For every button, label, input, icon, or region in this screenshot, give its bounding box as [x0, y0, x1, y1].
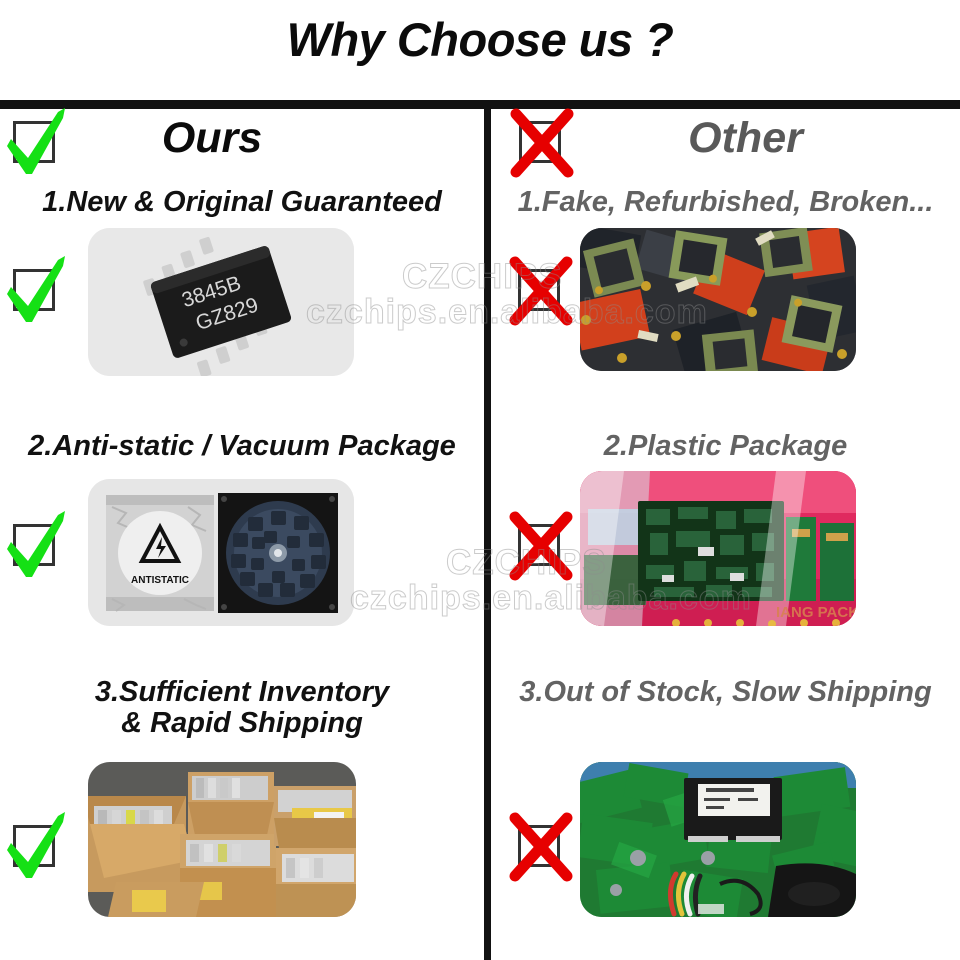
- ours-row-1: 1.New & Original Guaranteed: [0, 187, 484, 439]
- svg-text:ANTISTATIC: ANTISTATIC: [131, 575, 189, 586]
- ours-row-3: 3.Sufficient Inventory & Rapid Shipping: [0, 677, 484, 960]
- column-ours-header: Ours: [0, 109, 484, 187]
- header-divider-horizontal: [0, 100, 960, 109]
- why-choose-us-infographic: Why Choose us ? Ours 1.New & Original Gu…: [0, 0, 960, 960]
- scrap-green-pcb-heap-photo: [580, 762, 856, 917]
- check-mark-icon: [13, 524, 55, 566]
- column-other-label: Other: [511, 114, 960, 163]
- cross-mark-icon: [518, 269, 560, 311]
- column-divider-vertical: [484, 109, 491, 960]
- column-ours-label: Ours: [0, 114, 454, 163]
- other-row-1: 1.Fake, Refurbished, Broken...: [491, 187, 960, 439]
- other-row-3-label: 3.Out of Stock, Slow Shipping: [491, 677, 960, 708]
- column-other-header: Other: [491, 109, 960, 187]
- antistatic-vacuum-bag-reel-photo: ANTISTATIC: [88, 479, 354, 626]
- column-other: Other 1.Fake, Refurbished, Broken...: [491, 109, 960, 960]
- ours-row-2-label: 2.Anti-static / Vacuum Package: [0, 431, 484, 462]
- other-row-1-label: 1.Fake, Refurbished, Broken...: [491, 187, 960, 218]
- sop8-ic-chip-photo: 3845B GZ829: [88, 228, 354, 376]
- svg-text:IANG PACK: IANG PACK: [776, 604, 856, 621]
- column-ours: Ours 1.New & Original Guaranteed: [0, 109, 484, 960]
- other-row-3: 3.Out of Stock, Slow Shipping: [491, 677, 960, 960]
- other-row-2: 2.Plastic Package: [491, 431, 960, 686]
- pcb-in-pink-plastic-bag-photo: IANG PACK: [580, 471, 856, 626]
- cross-mark-icon: [518, 825, 560, 867]
- ours-row-3-label: 3.Sufficient Inventory & Rapid Shipping: [0, 677, 484, 740]
- cross-mark-icon: [518, 524, 560, 566]
- check-mark-icon: [13, 825, 55, 867]
- ours-row-2: 2.Anti-static / Vacuum Package: [0, 431, 484, 686]
- ours-row-1-label: 1.New & Original Guaranteed: [0, 187, 484, 218]
- page-title: Why Choose us ?: [0, 12, 960, 67]
- other-row-2-label: 2.Plastic Package: [491, 431, 960, 462]
- pile-of-scrap-chips-photo: [580, 228, 856, 371]
- cartons-of-packed-parts-photo: [88, 762, 356, 917]
- check-mark-icon: [13, 269, 55, 311]
